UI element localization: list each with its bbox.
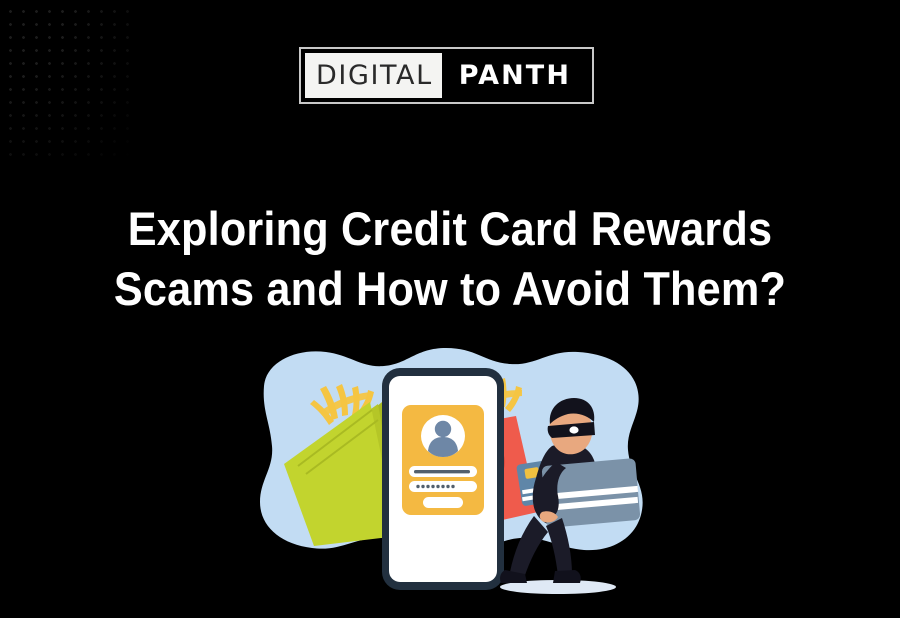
brand-logo-word-panth: PANTH [442, 53, 588, 98]
thief-eye [569, 426, 578, 433]
brand-logo-inner: DIGITAL PANTH [301, 49, 592, 102]
thief-front-shoe [553, 570, 581, 583]
brand-logo[interactable]: DIGITAL PANTH [299, 47, 594, 104]
smartphone [382, 368, 504, 590]
page-title-line-1: Exploring Credit Card Rewards [36, 199, 864, 259]
username-field[interactable] [409, 466, 477, 477]
hero-illustration [222, 340, 678, 618]
illustration-svg [222, 340, 678, 618]
page-title: Exploring Credit Card Rewards Scams and … [36, 199, 864, 319]
decorative-dot-pattern [0, 0, 130, 165]
brand-logo-word-digital: DIGITAL [305, 53, 442, 98]
page-title-line-2: Scams and How to Avoid Them? [36, 259, 864, 319]
password-field[interactable] [409, 481, 477, 492]
blog-banner: DIGITAL PANTH Exploring Credit Card Rewa… [0, 0, 900, 618]
login-submit-button[interactable] [423, 497, 463, 508]
user-avatar-icon [421, 415, 465, 457]
